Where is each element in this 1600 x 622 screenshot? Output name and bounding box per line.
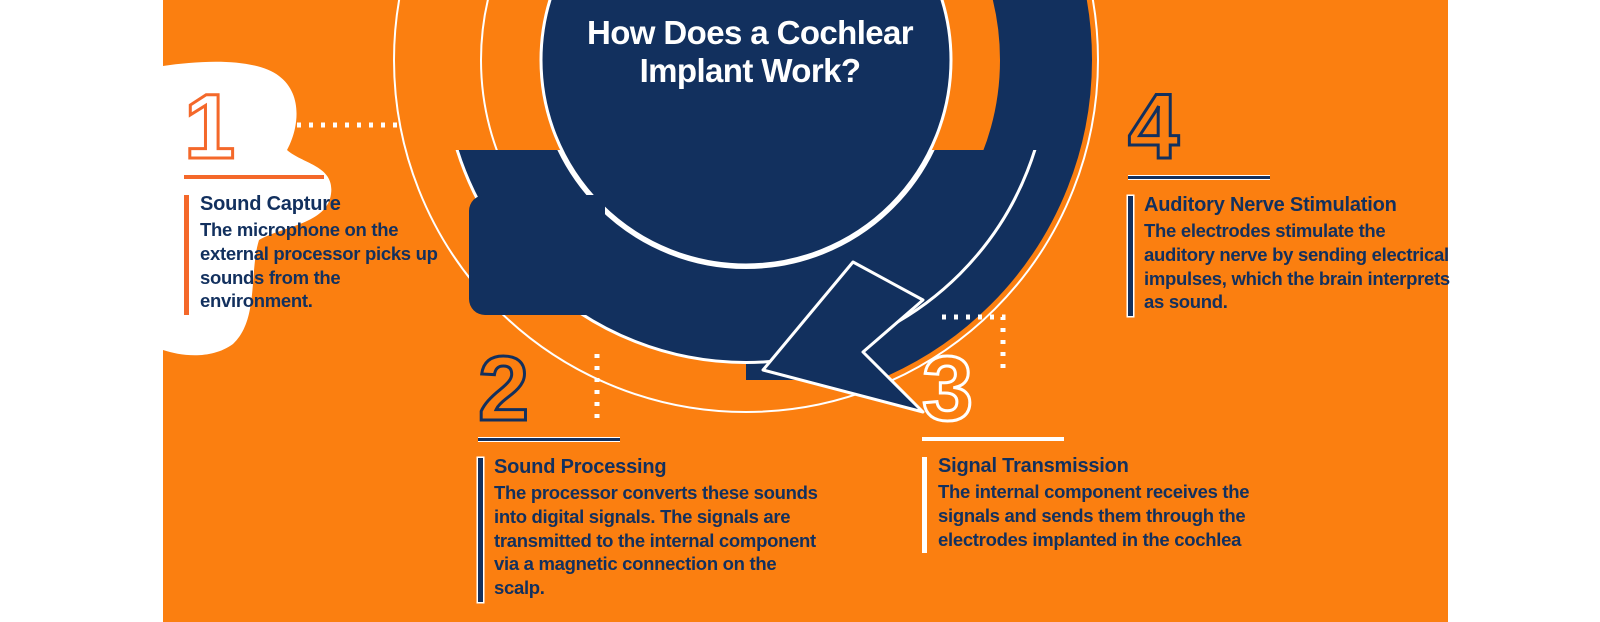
step-2-number: 2 — [478, 346, 858, 433]
page-title: How Does a Cochlear Implant Work? — [540, 14, 960, 91]
step-1-accent-bar — [184, 195, 189, 315]
step-3-description: The internal component receives the sign… — [938, 480, 1274, 551]
step-2: 2 Sound Processing The processor convert… — [478, 346, 858, 600]
step-1: 1 Sound Capture The microphone on the ex… — [184, 84, 456, 313]
step-2-accent-bar — [478, 458, 483, 601]
step-4-number: 4 — [1128, 84, 1476, 171]
step-1-description: The microphone on the external processor… — [200, 218, 456, 313]
step-2-description: The processor converts these sounds into… — [494, 481, 858, 599]
step-4-description: The electrodes stimulate the auditory ne… — [1144, 219, 1476, 314]
infographic-canvas: How Does a Cochlear Implant Work? 1 Soun… — [0, 0, 1600, 622]
swirl-cap — [469, 195, 605, 315]
step-1-title: Sound Capture — [200, 193, 456, 215]
step-4-title: Auditory Nerve Stimulation — [1144, 194, 1476, 216]
step-4-accent-bar — [1128, 196, 1133, 316]
step-3: 3 Signal Transmission The internal compo… — [922, 346, 1274, 551]
step-1-number: 1 — [184, 84, 456, 171]
step-3-number: 3 — [922, 346, 1274, 433]
step-2-title: Sound Processing — [494, 456, 858, 478]
step-4: 4 Auditory Nerve Stimulation The electro… — [1128, 84, 1476, 314]
step-3-title: Signal Transmission — [938, 455, 1274, 477]
step-3-accent-bar — [922, 457, 927, 553]
